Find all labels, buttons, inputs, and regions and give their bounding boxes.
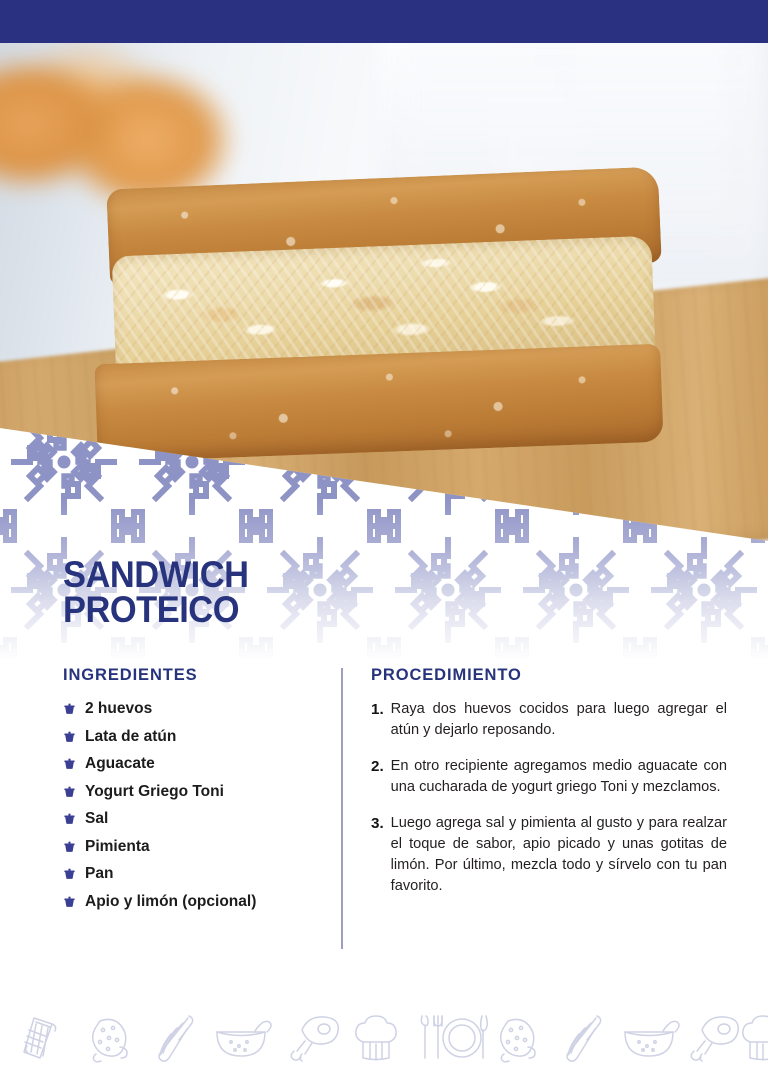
bottom-utensil-strip <box>0 1000 768 1075</box>
chef-hat-icon <box>356 1016 396 1060</box>
oven-mitt-icon <box>501 1019 535 1061</box>
step-number: 2. <box>371 756 384 798</box>
mixing-bowl-icon <box>625 1021 679 1056</box>
cheese-grater-icon <box>24 1018 56 1058</box>
cooking-pot-icon <box>63 840 76 853</box>
ingredient-label: 2 huevos <box>85 699 152 718</box>
whisk-icon <box>159 1016 193 1061</box>
whisk-icon <box>567 1016 601 1061</box>
step-text: Luego agrega sal y pimienta al gusto y p… <box>391 813 727 897</box>
cooking-pot-icon <box>63 867 76 880</box>
list-item: Apio y limón (opcional) <box>63 892 325 911</box>
list-item: 3. Luego agrega sal y pimienta al gusto … <box>371 813 727 897</box>
cooking-pot-icon <box>63 730 76 743</box>
hand-mixer-icon <box>691 1017 738 1061</box>
list-item: Pan <box>63 864 325 883</box>
cooking-pot-icon <box>63 702 76 715</box>
ingredient-label: Lata de atún <box>85 727 176 746</box>
list-item: 1. Raya dos huevos cocidos para luego ag… <box>371 699 727 741</box>
ingredients-list: 2 huevos Lata de atún <box>63 699 325 911</box>
chef-hat-icon <box>743 1016 768 1060</box>
ingredient-label: Apio y limón (opcional) <box>85 892 256 911</box>
step-number: 3. <box>371 813 384 897</box>
ingredients-column: INGREDIENTES 2 huevos La <box>63 666 325 919</box>
ingredient-label: Pimienta <box>85 837 150 856</box>
recipe-title-line-1: SANDWICH <box>63 558 249 591</box>
list-item: Aguacate <box>63 754 325 773</box>
ingredient-label: Yogurt Griego Toni <box>85 782 224 801</box>
step-number: 1. <box>371 699 384 741</box>
cutlery-plate-icon <box>421 1016 487 1058</box>
cooking-pot-icon <box>63 757 76 770</box>
oven-mitt-icon <box>93 1019 127 1061</box>
list-item: Sal <box>63 809 325 828</box>
cooking-pot-icon <box>63 895 76 908</box>
page-title: SANDWICH PROTEICO <box>63 558 262 626</box>
sandwich-photo-subject <box>96 178 672 456</box>
procedure-heading: PROCEDIMIENTO <box>371 666 727 685</box>
column-divider <box>341 668 343 949</box>
hand-mixer-icon <box>291 1017 338 1061</box>
list-item: Lata de atún <box>63 727 325 746</box>
list-item: Yogurt Griego Toni <box>63 782 325 801</box>
ingredient-label: Pan <box>85 864 113 883</box>
list-item: 2. En otro recipiente agregamos medio ag… <box>371 756 727 798</box>
procedure-list: 1. Raya dos huevos cocidos para luego ag… <box>371 699 727 897</box>
cooking-pot-icon <box>63 812 76 825</box>
step-text: Raya dos huevos cocidos para luego agreg… <box>391 699 727 741</box>
ingredients-heading: INGREDIENTES <box>63 666 325 685</box>
recipe-card-page: SANDWICH PROTEICO INGREDIENTES 2 huevos <box>0 0 768 1075</box>
mixing-bowl-icon <box>217 1021 271 1056</box>
ingredient-label: Sal <box>85 809 108 828</box>
list-item: 2 huevos <box>63 699 325 718</box>
bread-slice-bottom <box>94 344 663 463</box>
top-navy-band <box>0 0 768 43</box>
step-text: En otro recipiente agregamos medio aguac… <box>391 756 727 798</box>
recipe-title-line-2: PROTEICO <box>63 593 249 626</box>
procedure-column: PROCEDIMIENTO 1. Raya dos huevos cocidos… <box>371 666 727 912</box>
cooking-pot-icon <box>63 785 76 798</box>
ingredient-label: Aguacate <box>85 754 155 773</box>
list-item: Pimienta <box>63 837 325 856</box>
